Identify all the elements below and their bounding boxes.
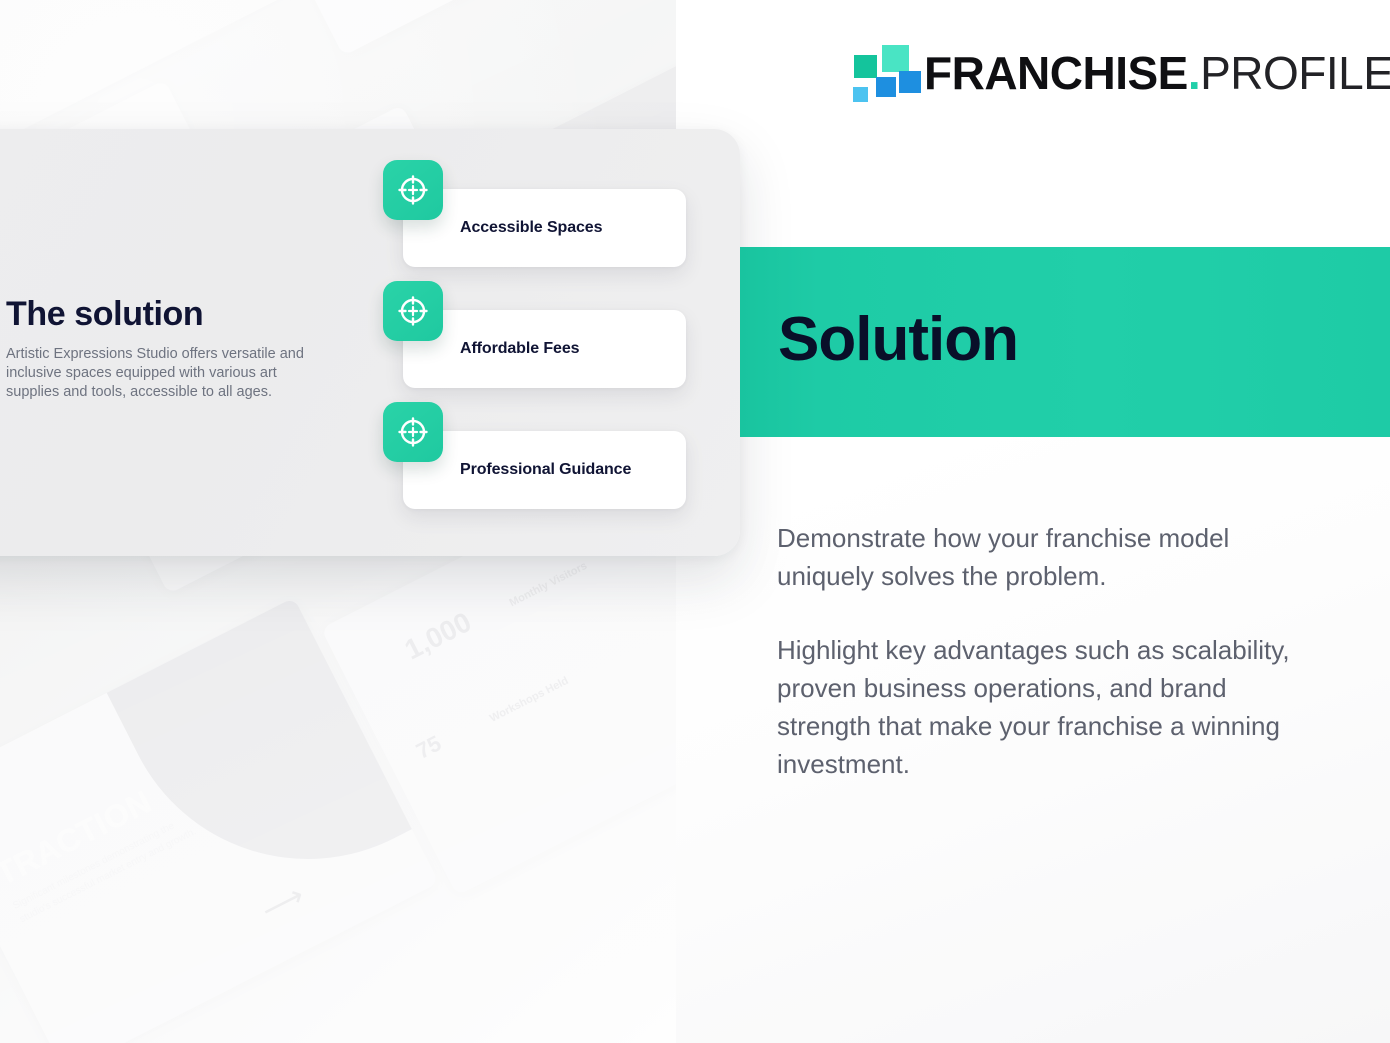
section-banner: Solution [740,247,1390,437]
feature-label: Professional Guidance [460,431,631,509]
section-description: Demonstrate how your franchise model uni… [777,520,1317,784]
feature-label: Accessible Spaces [460,189,602,267]
feature-row-accessible-spaces[interactable]: Accessible Spaces [403,189,688,267]
description-paragraph-1: Demonstrate how your franchise model uni… [777,520,1317,596]
section-title: Solution [778,247,1018,437]
feature-row-affordable-fees[interactable]: Affordable Fees [403,310,688,388]
description-paragraph-2: Highlight key advantages such as scalabi… [777,632,1317,784]
logo-square-blue-mid [876,77,896,97]
logo-square-blue-right [899,71,921,93]
logo-square-mint [882,45,909,72]
logo-wordmark: FRANCHISE.PROFILES [924,38,1390,108]
logo-word-franchise: FRANCHISE [924,47,1188,99]
slide-preview-page: MARKET spaces in urban and suburban area… [0,0,1390,1043]
crosshair-target-icon [383,281,443,341]
solution-slide-card[interactable]: The solution Artistic Expressions Studio… [0,129,740,556]
logo-mark-squares-icon [851,43,909,105]
logo-square-teal [854,55,877,78]
crosshair-target-icon [383,402,443,462]
logo-square-lightblue [853,87,868,102]
crosshair-target-icon [383,160,443,220]
logo-dot: . [1188,47,1200,99]
feature-row-professional-guidance[interactable]: Professional Guidance [403,431,688,509]
slide-heading: The solution [6,295,203,334]
logo-word-profiles: PROFILES [1200,47,1390,99]
slide-body-text: Artistic Expressions Studio offers versa… [6,345,326,402]
brand-logo[interactable]: FRANCHISE.PROFILES [851,40,1351,110]
feature-label: Affordable Fees [460,310,579,388]
